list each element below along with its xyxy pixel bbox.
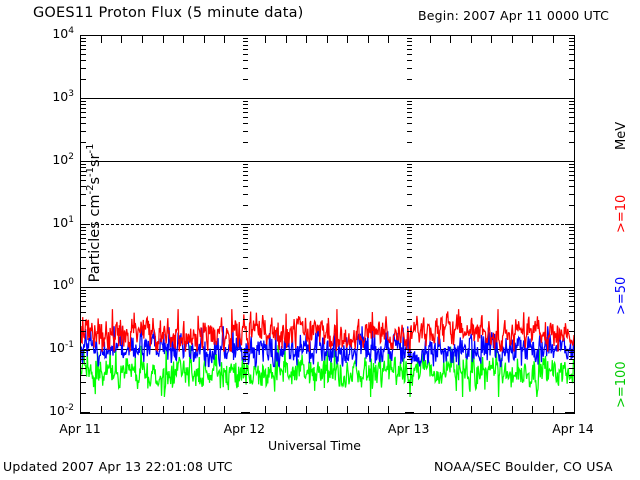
y-tick-minor (81, 104, 86, 105)
x-tick (532, 36, 533, 43)
y-tick-minor (569, 112, 574, 113)
day-boundary-tick-minor (243, 186, 248, 187)
plot-area[interactable]: Particles cm-2s-1sr-1 (80, 35, 575, 414)
y-tick-label: 103 (30, 89, 74, 104)
y-tick-minor (569, 368, 574, 369)
series-line--100-mev (81, 345, 574, 397)
day-boundary-tick-minor (243, 359, 248, 360)
proton-flux-series (81, 36, 574, 413)
y-tick-minor (569, 268, 574, 269)
x-tick (183, 406, 184, 413)
x-tick (491, 406, 492, 413)
day-boundary-tick-minor (407, 243, 412, 244)
day-boundary-tick-major (405, 349, 414, 350)
day-boundary-tick-minor (407, 331, 412, 332)
y-tick-major (565, 98, 574, 99)
day-boundary-tick-minor (243, 171, 248, 172)
day-boundary-tick-minor (243, 331, 248, 332)
x-tick (430, 406, 431, 413)
y-tick-minor (569, 363, 574, 364)
day-boundary-tick-minor (243, 293, 248, 294)
y-tick-mantissa: 10 (52, 152, 68, 167)
x-tick (450, 406, 451, 413)
y-tick-minor (81, 54, 86, 55)
x-tick (388, 36, 389, 43)
y-tick-minor (81, 175, 86, 176)
y-tick-label: 100 (30, 277, 74, 292)
x-tick (471, 36, 472, 43)
x-tick (142, 36, 143, 43)
y-tick-minor (569, 382, 574, 383)
y-tick-minor (81, 230, 86, 231)
x-tick (101, 36, 102, 43)
y-tick-minor (81, 194, 86, 195)
day-boundary-tick-minor (243, 301, 248, 302)
day-boundary-tick-minor (243, 101, 248, 102)
y-tick-minor (81, 293, 86, 294)
x-tick (101, 406, 102, 413)
day-boundary-tick-minor (243, 123, 248, 124)
y-tick-major (81, 98, 90, 99)
x-tick (204, 406, 205, 413)
y-tick-minor (569, 131, 574, 132)
x-tick (306, 36, 307, 43)
y-tick-minor (81, 312, 86, 313)
y-tick-minor (569, 227, 574, 228)
y-tick-mantissa: 10 (52, 26, 68, 41)
source-credit: NOAA/SEC Boulder, CO USA (434, 459, 613, 474)
day-boundary-tick-minor (407, 41, 412, 42)
day-boundary-tick-minor (407, 101, 412, 102)
y-tick-minor (569, 393, 574, 394)
x-tick (430, 36, 431, 43)
y-tick-minor (569, 257, 574, 258)
y-tick-minor (81, 257, 86, 258)
day-boundary-tick-minor (243, 230, 248, 231)
day-boundary-tick-minor (407, 38, 412, 39)
y-tick-minor (81, 243, 86, 244)
y-tick-minor (569, 359, 574, 360)
day-boundary-tick-minor (407, 194, 412, 195)
day-boundary-tick-minor (407, 117, 412, 118)
y-tick-minor (569, 142, 574, 143)
plot-clip (81, 36, 574, 413)
x-axis-label: Universal Time (268, 438, 361, 453)
y-tick-minor (569, 194, 574, 195)
day-boundary-tick-minor (407, 249, 412, 250)
x-tick (347, 406, 348, 413)
day-boundary-tick-minor (243, 54, 248, 55)
y-tick-minor (81, 41, 86, 42)
y-tick-minor (569, 54, 574, 55)
y-tick-minor (569, 249, 574, 250)
x-tick (388, 406, 389, 413)
x-tick-label: Apr 13 (374, 421, 444, 436)
day-boundary-tick-minor (243, 363, 248, 364)
y-tick-minor (81, 205, 86, 206)
y-tick-minor (569, 243, 574, 244)
x-tick (450, 36, 451, 43)
day-boundary-tick-minor (407, 293, 412, 294)
x-tick (327, 406, 328, 413)
day-boundary-tick-minor (243, 38, 248, 39)
day-boundary-tick-minor (407, 374, 412, 375)
y-tick-minor (81, 375, 86, 376)
y-tick-minor (81, 238, 86, 239)
x-tick-label: Apr 12 (209, 421, 279, 436)
y-tick-minor (81, 331, 86, 332)
y-tick-major (81, 350, 90, 351)
y-tick-minor (569, 79, 574, 80)
x-tick (142, 406, 143, 413)
day-boundary-tick-minor (243, 268, 248, 269)
day-boundary-tick-minor (243, 290, 248, 291)
x-tick (265, 36, 266, 43)
y-tick-label: 10-1 (30, 340, 74, 355)
day-boundary-tick-minor (407, 205, 412, 206)
y-tick-minor (81, 167, 86, 168)
page-title: GOES11 Proton Flux (5 minute data) (33, 5, 304, 21)
y-tick-exponent: -1 (65, 340, 74, 350)
y-tick-minor (81, 296, 86, 297)
y-tick-minor (569, 49, 574, 50)
day-boundary-tick-minor (243, 68, 248, 69)
y-tick-major (565, 350, 574, 351)
day-boundary-tick-minor (407, 68, 412, 69)
y-tick-minor (569, 331, 574, 332)
x-tick (286, 406, 287, 413)
day-boundary-tick-minor (407, 290, 412, 291)
y-tick-minor (569, 117, 574, 118)
day-boundary-tick-minor (243, 243, 248, 244)
y-tick-exponent: 2 (68, 152, 74, 162)
y-tick-minor (569, 205, 574, 206)
y-tick-minor (569, 186, 574, 187)
y-tick-minor (81, 368, 86, 369)
day-boundary-tick-minor (243, 257, 248, 258)
day-boundary-tick-minor (407, 356, 412, 357)
day-boundary-tick-minor (243, 175, 248, 176)
day-boundary-tick-minor (407, 312, 412, 313)
day-boundary-tick-major (405, 98, 414, 99)
x-tick-label: Apr 11 (45, 421, 115, 436)
y-tick-minor (81, 249, 86, 250)
x-tick (224, 406, 225, 413)
day-boundary-tick-minor (243, 79, 248, 80)
day-boundary-tick-minor (407, 45, 412, 46)
day-boundary-tick-minor (407, 167, 412, 168)
day-boundary-tick-minor (243, 41, 248, 42)
y-tick-minor (81, 79, 86, 80)
day-boundary-tick-major (241, 98, 250, 99)
day-boundary-tick-minor (243, 368, 248, 369)
y-tick-mantissa: 10 (52, 215, 68, 230)
day-boundary-tick-minor (243, 131, 248, 132)
y-tick-minor (81, 290, 86, 291)
x-tick (265, 406, 266, 413)
y-tick-minor (81, 164, 86, 165)
y-tick-major (81, 287, 90, 288)
y-tick-minor (569, 164, 574, 165)
x-tick (532, 406, 533, 413)
x-tick (183, 36, 184, 43)
y-tick-minor (569, 238, 574, 239)
y-tick-mantissa: 10 (52, 277, 68, 292)
y-tick-exponent: 1 (68, 215, 74, 225)
y-tick-minor (81, 234, 86, 235)
day-boundary-tick-minor (407, 49, 412, 50)
y-tick-minor (81, 320, 86, 321)
day-boundary-tick-minor (243, 374, 248, 375)
y-tick-minor (569, 230, 574, 231)
y-tick-major (81, 161, 90, 162)
day-boundary-tick-minor (243, 296, 248, 297)
day-boundary-tick-major (241, 412, 250, 413)
y-tick-major (565, 412, 574, 413)
x-tick (347, 36, 348, 43)
y-tick-minor (81, 60, 86, 61)
day-boundary-tick-major (405, 412, 414, 413)
y-tick-minor (81, 359, 86, 360)
y-tick-major (565, 224, 574, 225)
y-tick-major (81, 412, 90, 413)
day-boundary-tick-minor (243, 249, 248, 250)
day-boundary-tick-minor (407, 180, 412, 181)
day-boundary-tick-minor (243, 306, 248, 307)
y-tick-label: 10-2 (30, 403, 74, 418)
x-tick (163, 406, 164, 413)
y-tick-minor (569, 104, 574, 105)
y-tick-minor (81, 268, 86, 269)
day-boundary-tick-minor (407, 164, 412, 165)
day-boundary-tick-minor (407, 234, 412, 235)
day-boundary-tick-minor (407, 142, 412, 143)
x-tick (163, 36, 164, 43)
day-boundary-tick-minor (407, 319, 412, 320)
y-tick-minor (569, 175, 574, 176)
day-boundary-tick-major (241, 161, 250, 162)
chart-page: GOES11 Proton Flux (5 minute data) Begin… (0, 0, 640, 480)
x-tick (512, 36, 513, 43)
day-boundary-tick-minor (243, 352, 248, 353)
y-tick-minor (81, 393, 86, 394)
x-tick (286, 36, 287, 43)
y-tick-minor (81, 363, 86, 364)
y-tick-label: 101 (30, 215, 74, 230)
y-tick-minor (81, 38, 86, 39)
y-tick-minor (569, 320, 574, 321)
day-boundary-tick-minor (243, 227, 248, 228)
day-boundary-tick-major (241, 287, 250, 288)
y-tick-minor (569, 375, 574, 376)
day-boundary-tick-minor (243, 104, 248, 105)
day-boundary-tick-minor (243, 319, 248, 320)
y-tick-minor (81, 123, 86, 124)
y-tick-minor (81, 45, 86, 46)
y-tick-minor (569, 171, 574, 172)
day-boundary-tick-minor (243, 234, 248, 235)
y-tick-minor (81, 142, 86, 143)
day-boundary-tick-minor (407, 296, 412, 297)
legend-item-ge50: >=50 (614, 277, 629, 315)
day-boundary-tick-minor (407, 60, 412, 61)
y-tick-minor (569, 60, 574, 61)
y-tick-minor (81, 68, 86, 69)
y-tick-minor (81, 186, 86, 187)
day-boundary-tick-minor (243, 382, 248, 383)
y-tick-minor (81, 180, 86, 181)
y-tick-minor (81, 49, 86, 50)
y-tick-minor (81, 382, 86, 383)
day-boundary-tick-minor (407, 227, 412, 228)
x-tick (224, 36, 225, 43)
x-tick (368, 406, 369, 413)
day-boundary-tick-minor (407, 257, 412, 258)
day-boundary-tick-minor (407, 268, 412, 269)
y-tick-minor (81, 306, 86, 307)
x-tick (204, 36, 205, 43)
day-boundary-tick-major (405, 287, 414, 288)
day-boundary-tick-minor (407, 306, 412, 307)
day-boundary-tick-major (405, 224, 414, 225)
y-tick-minor (569, 41, 574, 42)
day-boundary-tick-minor (407, 393, 412, 394)
day-boundary-tick-minor (407, 186, 412, 187)
y-tick-minor (81, 356, 86, 357)
y-tick-minor (81, 112, 86, 113)
y-tick-minor (569, 293, 574, 294)
y-tick-minor (569, 123, 574, 124)
day-boundary-tick-minor (407, 79, 412, 80)
day-boundary-tick-minor (407, 382, 412, 383)
day-boundary-tick-minor (407, 368, 412, 369)
day-boundary-tick-major (405, 161, 414, 162)
legend-units-mev: MeV (614, 122, 629, 150)
x-tick (327, 36, 328, 43)
day-boundary-tick-minor (243, 393, 248, 394)
day-boundary-tick-minor (243, 108, 248, 109)
y-tick-minor (569, 234, 574, 235)
y-tick-mantissa: 10 (49, 340, 65, 355)
x-tick-label: Apr 14 (538, 421, 608, 436)
y-tick-label: 104 (30, 26, 74, 41)
y-tick-minor (569, 306, 574, 307)
y-tick-minor (569, 68, 574, 69)
day-boundary-tick-minor (243, 164, 248, 165)
legend-item-ge10: >=10 (614, 195, 629, 233)
day-boundary-tick-minor (407, 352, 412, 353)
y-tick-exponent: 4 (68, 26, 74, 36)
day-boundary-tick-minor (243, 312, 248, 313)
y-tick-major (565, 287, 574, 288)
day-boundary-tick-minor (407, 108, 412, 109)
y-tick-minor (569, 45, 574, 46)
x-tick (306, 406, 307, 413)
y-tick-minor (569, 167, 574, 168)
day-boundary-tick-minor (407, 123, 412, 124)
day-boundary-tick-minor (407, 238, 412, 239)
day-boundary-tick-minor (407, 131, 412, 132)
day-boundary-tick-minor (407, 363, 412, 364)
day-boundary-tick-minor (243, 205, 248, 206)
y-tick-minor (81, 131, 86, 132)
y-tick-minor (81, 108, 86, 109)
day-boundary-tick-minor (243, 60, 248, 61)
x-tick (121, 36, 122, 43)
day-boundary-tick-minor (407, 54, 412, 55)
y-tick-minor (81, 117, 86, 118)
x-tick (491, 36, 492, 43)
day-boundary-tick-minor (243, 142, 248, 143)
y-tick-exponent: 0 (68, 277, 74, 287)
day-boundary-tick-minor (407, 359, 412, 360)
y-tick-mantissa: 10 (52, 89, 68, 104)
y-tick-minor (81, 227, 86, 228)
x-tick (553, 406, 554, 413)
updated-timestamp: Updated 2007 Apr 13 22:01:08 UTC (3, 459, 233, 474)
day-boundary-tick-minor (243, 112, 248, 113)
legend-item-ge100: >=100 (614, 361, 629, 408)
day-boundary-tick-minor (243, 180, 248, 181)
day-boundary-tick-minor (243, 194, 248, 195)
day-boundary-tick-minor (407, 112, 412, 113)
x-tick (512, 406, 513, 413)
day-boundary-tick-minor (407, 230, 412, 231)
y-tick-minor (569, 296, 574, 297)
day-boundary-tick-minor (243, 238, 248, 239)
x-tick (471, 406, 472, 413)
day-boundary-tick-minor (243, 167, 248, 168)
x-tick (121, 406, 122, 413)
day-boundary-tick-minor (407, 104, 412, 105)
day-boundary-tick-major (241, 224, 250, 225)
day-boundary-tick-minor (243, 356, 248, 357)
y-tick-minor (569, 108, 574, 109)
y-tick-exponent: 3 (68, 89, 74, 99)
y-tick-mantissa: 10 (49, 403, 65, 418)
y-tick-minor (569, 352, 574, 353)
y-tick-minor (81, 101, 86, 102)
day-boundary-tick-minor (243, 49, 248, 50)
y-tick-exponent: -2 (65, 403, 74, 413)
y-tick-major (81, 224, 90, 225)
y-tick-minor (569, 38, 574, 39)
y-tick-label: 102 (30, 152, 74, 167)
y-tick-minor (569, 180, 574, 181)
y-tick-minor (569, 101, 574, 102)
y-tick-minor (569, 290, 574, 291)
day-boundary-tick-minor (407, 175, 412, 176)
day-boundary-tick-minor (243, 117, 248, 118)
day-boundary-tick-major (241, 349, 250, 350)
y-tick-minor (81, 352, 86, 353)
y-tick-minor (569, 312, 574, 313)
y-tick-minor (81, 301, 86, 302)
y-tick-minor (81, 171, 86, 172)
day-boundary-tick-minor (407, 301, 412, 302)
y-tick-minor (569, 356, 574, 357)
y-tick-minor (569, 301, 574, 302)
begin-time-label: Begin: 2007 Apr 11 0000 UTC (418, 8, 609, 23)
y-tick-major (565, 161, 574, 162)
day-boundary-tick-minor (243, 45, 248, 46)
x-tick (553, 36, 554, 43)
x-tick (368, 36, 369, 43)
day-boundary-tick-minor (407, 171, 412, 172)
